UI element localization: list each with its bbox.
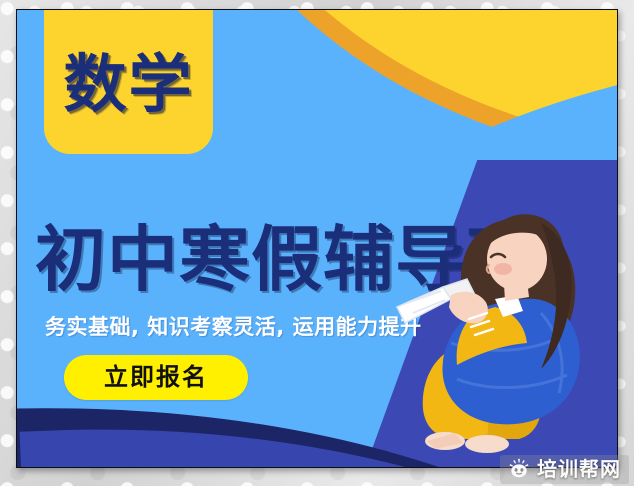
corner-wedge-shape bbox=[183, 9, 618, 161]
subtitle-text: 务实基础, 知识考察灵活, 运用能力提升 bbox=[45, 316, 422, 339]
sun-face-icon bbox=[508, 458, 530, 480]
girl-reading-illustration bbox=[391, 203, 618, 453]
site-watermark: 培训帮网 bbox=[500, 455, 629, 484]
corner-wedge-rim-shape bbox=[173, 9, 618, 177]
subject-tag: 数学 bbox=[44, 9, 213, 154]
course-promo-banner: 数学 初中寒假辅导班 务实基础, 知识考察灵活, 运用能力提升 立即报名 bbox=[16, 9, 618, 468]
enroll-now-button[interactable]: 立即报名 bbox=[64, 355, 248, 400]
enroll-now-button-label: 立即报名 bbox=[104, 366, 208, 390]
watermark-label: 培训帮网 bbox=[537, 459, 621, 479]
page-backdrop: 数学 初中寒假辅导班 务实基础, 知识考察灵活, 运用能力提升 立即报名 bbox=[0, 0, 634, 486]
subject-tag-label: 数学 bbox=[64, 47, 194, 116]
